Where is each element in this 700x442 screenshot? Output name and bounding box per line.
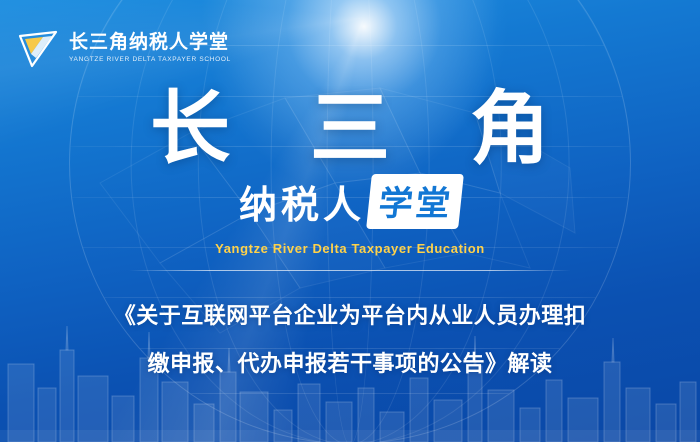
poster-image: 长三角纳税人学堂 YANGTZE RIVER DELTA TAXPAYER SC… (0, 0, 700, 442)
announcement-text: 《关于互联网平台企业为平台内从业人员办理扣 缴申报、代办申报若干事项的公告》解读 (0, 292, 700, 388)
announcement-line-1: 《关于互联网平台企业为平台内从业人员办理扣 (0, 292, 700, 340)
hero-title-main: 长 三 角 (0, 86, 700, 170)
hero-subtitle-en: Yangtze River Delta Taxpayer Education (0, 241, 700, 256)
logo-cn-name: 长三角纳税人学堂 (69, 33, 231, 52)
hero-subtitle-row: 纳税人 学堂 (0, 174, 700, 229)
divider (129, 270, 571, 271)
announcement-line-2: 缴申报、代办申报若干事项的公告》解读 (0, 340, 700, 388)
logo-en-name: YANGTZE RIVER DELTA TAXPAYER SCHOOL (69, 57, 231, 64)
hero-subtitle-plain: 纳税人 (239, 174, 365, 229)
hero-subtitle-highlight: 学堂 (366, 174, 464, 229)
hero-title-block: 长 三 角 纳税人 学堂 Yangtze River Delta Taxpaye… (0, 86, 700, 271)
triangle-delta-logo-icon (16, 26, 60, 70)
logo: 长三角纳税人学堂 YANGTZE RIVER DELTA TAXPAYER SC… (16, 26, 231, 70)
